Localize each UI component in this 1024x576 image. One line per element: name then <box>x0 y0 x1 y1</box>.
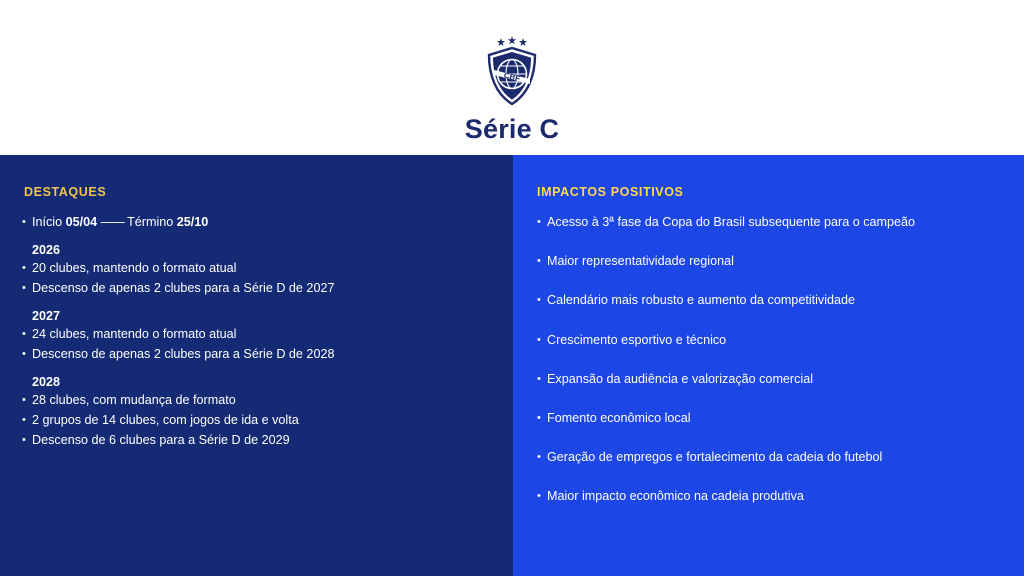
list-item: • 28 clubes, com mudança de formato <box>22 391 492 410</box>
bullet-icon: • <box>22 279 32 298</box>
bullet-icon: • <box>537 291 547 310</box>
slide: CBF Série C DESTAQUES • Início 05/04 —— … <box>0 0 1024 576</box>
season-dates: Início 05/04 —— Término 25/10 <box>32 213 492 232</box>
list-item-label: Maior representatividade regional <box>547 252 1007 271</box>
bullet-icon: • <box>22 391 32 410</box>
right-panel-content: • Acesso à 3ª fase da Copa do Brasil sub… <box>537 213 1007 527</box>
right-panel: IMPACTOS POSITIVOS • Acesso à 3ª fase da… <box>513 155 1024 576</box>
list-item: • Maior representatividade regional <box>537 252 1007 271</box>
list-item-label: Fomento econômico local <box>547 409 1007 428</box>
bullet-icon: • <box>22 411 32 430</box>
slide-header: CBF Série C <box>0 0 1024 155</box>
list-item: • 24 clubes, mantendo o formato atual <box>22 325 492 344</box>
end-date: 25/10 <box>177 215 209 229</box>
left-panel-content: • Início 05/04 —— Término 25/10 2026 • 2… <box>22 213 492 451</box>
list-item-label: 20 clubes, mantendo o formato atual <box>32 259 492 278</box>
list-item: • Fomento econômico local <box>537 409 1007 428</box>
left-panel: DESTAQUES • Início 05/04 —— Término 25/1… <box>0 155 513 576</box>
bullet-icon: • <box>537 487 547 506</box>
list-item: • 20 clubes, mantendo o formato atual <box>22 259 492 278</box>
list-item: • Calendário mais robusto e aumento da c… <box>537 291 1007 310</box>
list-item-label: Descenso de apenas 2 clubes para a Série… <box>32 279 492 298</box>
bullet-icon: • <box>537 252 547 271</box>
list-item-label: Calendário mais robusto e aumento da com… <box>547 291 1007 310</box>
list-item-label: Crescimento esportivo e técnico <box>547 331 1007 350</box>
list-item: • Acesso à 3ª fase da Copa do Brasil sub… <box>537 213 1007 232</box>
date-dash: —— <box>101 215 124 229</box>
list-item-label: Expansão da audiência e valorização come… <box>547 370 1007 389</box>
list-item: • 2 grupos de 14 clubes, com jogos de id… <box>22 411 492 430</box>
list-item-label: Acesso à 3ª fase da Copa do Brasil subse… <box>547 213 1007 232</box>
start-date: 05/04 <box>66 215 98 229</box>
cbf-crest-icon: CBF <box>483 36 541 108</box>
left-panel-heading: DESTAQUES <box>24 185 106 199</box>
bullet-icon: • <box>537 331 547 350</box>
bullet-icon: • <box>537 370 547 389</box>
bullet-icon: • <box>537 409 547 428</box>
list-item: • Expansão da audiência e valorização co… <box>537 370 1007 389</box>
list-item-label: 2 grupos de 14 clubes, com jogos de ida … <box>32 411 492 430</box>
end-label: Término <box>127 215 173 229</box>
start-label: Início <box>32 215 62 229</box>
list-item-label: 28 clubes, com mudança de formato <box>32 391 492 410</box>
right-panel-heading: IMPACTOS POSITIVOS <box>537 185 683 199</box>
list-item-label: 24 clubes, mantendo o formato atual <box>32 325 492 344</box>
list-item: • Descenso de apenas 2 clubes para a Sér… <box>22 345 492 364</box>
year-label-2026: 2026 <box>32 243 492 257</box>
list-item-label: Maior impacto econômico na cadeia produt… <box>547 487 1007 506</box>
bullet-icon: • <box>537 213 547 232</box>
bullet-icon: • <box>22 325 32 344</box>
list-item: • Início 05/04 —— Término 25/10 <box>22 213 492 232</box>
list-item: • Geração de empregos e fortalecimento d… <box>537 448 1007 467</box>
slide-body: DESTAQUES • Início 05/04 —— Término 25/1… <box>0 155 1024 576</box>
list-item: • Crescimento esportivo e técnico <box>537 331 1007 350</box>
year-label-2028: 2028 <box>32 375 492 389</box>
list-item: • Descenso de 6 clubes para a Série D de… <box>22 431 492 450</box>
bullet-icon: • <box>537 448 547 467</box>
bullet-icon: • <box>22 259 32 278</box>
list-item: • Descenso de apenas 2 clubes para a Sér… <box>22 279 492 298</box>
year-label-2027: 2027 <box>32 309 492 323</box>
list-item-label: Descenso de apenas 2 clubes para a Série… <box>32 345 492 364</box>
bullet-icon: • <box>22 431 32 450</box>
list-item: • Maior impacto econômico na cadeia prod… <box>537 487 1007 506</box>
bullet-icon: • <box>22 345 32 364</box>
list-item-label: Descenso de 6 clubes para a Série D de 2… <box>32 431 492 450</box>
bullet-icon: • <box>22 213 32 232</box>
page-title: Série C <box>465 114 559 145</box>
list-item-label: Geração de empregos e fortalecimento da … <box>547 448 1007 467</box>
